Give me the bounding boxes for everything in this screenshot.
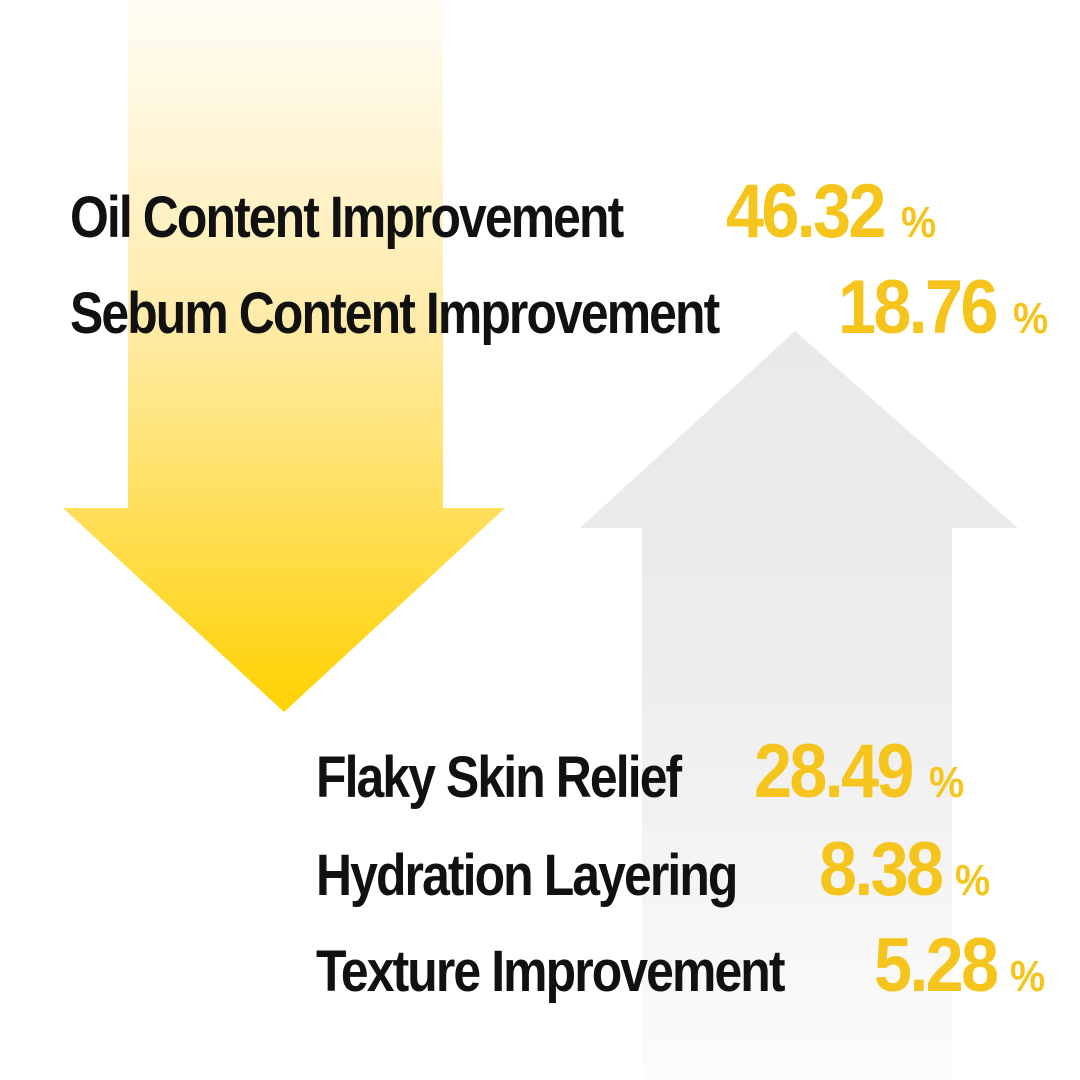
percent-sign: % — [1010, 955, 1044, 999]
metric-value: 8.38 — [819, 832, 941, 908]
infographic-canvas: Oil Content Improvement 46.32 % Sebum Co… — [0, 0, 1080, 1080]
metric-label: Hydration Layering — [316, 847, 736, 905]
metric-label: Texture Improvement — [316, 943, 784, 1001]
metric-label: Sebum Content Improvement — [70, 285, 718, 343]
metric-row: Texture Improvement 5.28 % — [316, 928, 1048, 1004]
metric-label: Oil Content Improvement — [70, 189, 622, 247]
percent-sign: % — [929, 761, 963, 805]
metric-row: Oil Content Improvement 46.32 % — [70, 174, 940, 250]
percent-sign: % — [901, 201, 935, 245]
metric-value: 5.28 — [874, 928, 996, 1004]
metric-row: Sebum Content Improvement 18.76 % — [70, 270, 1051, 346]
down-arrow-icon — [63, 0, 505, 712]
metric-label: Flaky Skin Relief — [316, 749, 680, 807]
metric-value: 18.76 — [838, 270, 996, 346]
percent-sign: % — [955, 859, 989, 903]
metric-row: Flaky Skin Relief 28.49 % — [316, 734, 967, 810]
metric-value: 28.49 — [754, 734, 912, 810]
metric-row: Hydration Layering 8.38 % — [316, 832, 993, 908]
percent-sign: % — [1013, 297, 1047, 341]
metric-value: 46.32 — [726, 174, 884, 250]
arrows-graphic — [0, 0, 1080, 1080]
